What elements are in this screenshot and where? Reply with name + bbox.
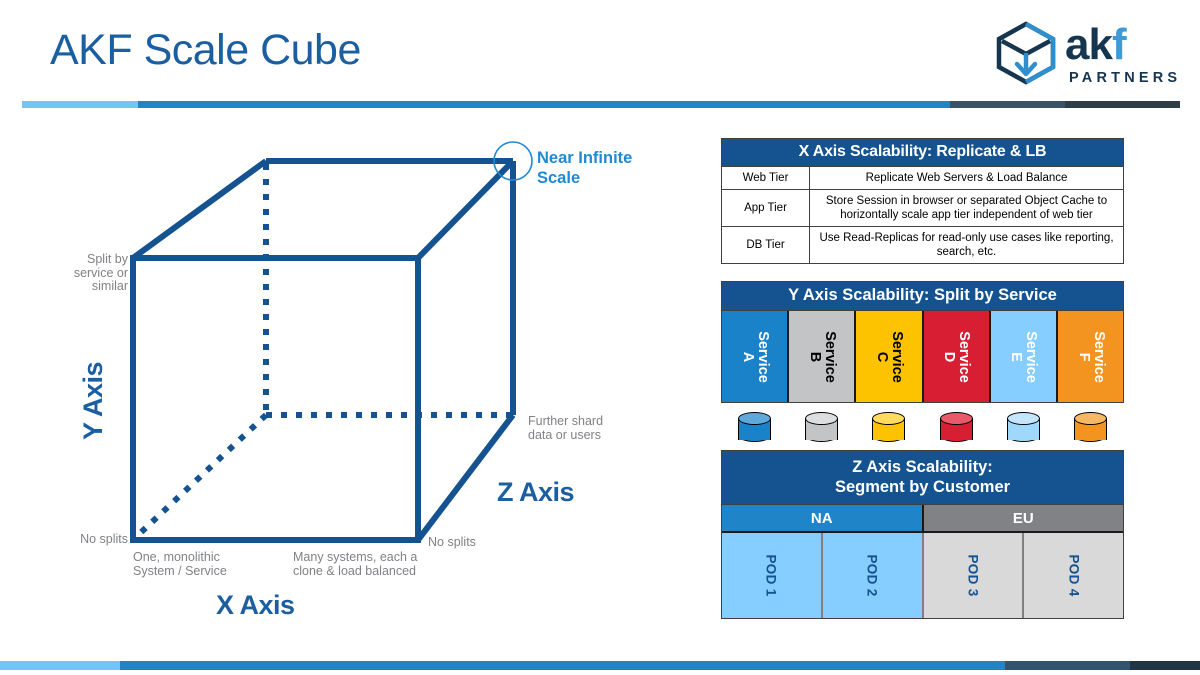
x-axis-left-annotation: One, monolithic System / Service xyxy=(133,551,293,578)
x-row-tier: Web Tier xyxy=(722,167,810,189)
y-axis-label: Y Axis xyxy=(78,362,109,440)
footer-divider-light xyxy=(0,661,120,670)
y-top-annotation-line2: service or xyxy=(74,266,128,280)
y-axis-service-row: ServiceAServiceBServiceCServiceDServiceE… xyxy=(721,311,1124,403)
y-service-line2: B xyxy=(807,351,823,361)
y-service-line1: Service xyxy=(889,331,905,383)
z-region-cell[interactable]: NA xyxy=(722,505,924,533)
logo-word-ak: ak xyxy=(1065,20,1112,69)
y-axis-table-header: Y Axis Scalability: Split by Service xyxy=(721,281,1124,311)
x-row-description: Use Read-Replicas for read-only use case… xyxy=(810,227,1123,263)
y-service-line1: Service xyxy=(755,331,771,383)
z-pod-label: POD 4 xyxy=(1066,554,1081,596)
z-pod-cell[interactable]: POD 2 xyxy=(823,533,924,618)
x-axis-label: X Axis xyxy=(216,590,295,621)
z-axis-annotation: Further shard data or users xyxy=(528,415,638,442)
table-row: Web TierReplicate Web Servers & Load Bal… xyxy=(721,167,1124,190)
table-row: App TierStore Session in browser or sepa… xyxy=(721,190,1124,227)
no-splits-right-label: No splits xyxy=(428,536,518,550)
y-service-label: ServiceC xyxy=(874,331,904,383)
table-row: DB TierUse Read-Replicas for read-only u… xyxy=(721,227,1124,264)
y-service-line2: C xyxy=(874,351,890,361)
database-cell xyxy=(1057,412,1124,444)
z-axis-table: Z Axis Scalability: Segment by Customer … xyxy=(721,450,1124,619)
database-cell xyxy=(923,412,990,444)
y-top-annotation-line3: similar xyxy=(92,279,128,293)
header-divider-dark xyxy=(950,101,1065,108)
y-service-line1: Service xyxy=(956,331,972,383)
x-axis-table: X Axis Scalability: Replicate & LB Web T… xyxy=(721,138,1124,264)
database-cell xyxy=(990,412,1057,444)
y-service-line1: Service xyxy=(1090,331,1106,383)
z-pod-cell[interactable]: POD 3 xyxy=(924,533,1025,618)
y-service-cell[interactable]: ServiceE xyxy=(991,311,1058,402)
scale-cube-diagram: Near Infinite Scale Split by service or … xyxy=(0,120,700,640)
cube-arrow-icon xyxy=(993,20,1059,86)
z-pod-label: POD 3 xyxy=(965,554,980,596)
y-axis-table: Y Axis Scalability: Split by Service Ser… xyxy=(721,281,1124,444)
z-annotation-line2: data or users xyxy=(528,428,601,442)
slide-root: AKF Scale Cube akf PARTNERS xyxy=(0,0,1200,675)
x-row-description: Store Session in browser or separated Ob… xyxy=(810,190,1123,226)
x-axis-right-annotation: Many systems, each a clone & load balanc… xyxy=(293,551,473,578)
y-service-line1: Service xyxy=(1023,331,1039,383)
x-axis-table-header: X Axis Scalability: Replicate & LB xyxy=(721,138,1124,167)
header-divider-medium xyxy=(138,101,950,108)
cube-edge-top-left xyxy=(133,161,266,258)
database-icon xyxy=(1074,412,1107,444)
y-top-annotation-line1: Split by xyxy=(87,252,128,266)
y-service-label: ServiceB xyxy=(807,331,837,383)
footer-divider-dark xyxy=(1005,661,1130,670)
y-axis-database-row xyxy=(721,412,1124,444)
z-region-cell[interactable]: EU xyxy=(924,505,1124,533)
akf-partners-logo: akf PARTNERS xyxy=(993,18,1178,90)
y-service-line2: E xyxy=(1008,352,1024,362)
database-cell xyxy=(855,412,922,444)
z-header-line2: Segment by Customer xyxy=(835,478,1010,496)
y-service-cell[interactable]: ServiceC xyxy=(856,311,923,402)
x-right-line1: Many systems, each a xyxy=(293,550,417,564)
y-service-line1: Service xyxy=(822,331,838,383)
z-pod-label: POD 1 xyxy=(764,554,779,596)
x-axis-table-body: Web TierReplicate Web Servers & Load Bal… xyxy=(721,167,1124,264)
x-row-tier: DB Tier xyxy=(722,227,810,263)
footer-divider-medium xyxy=(120,661,1005,670)
y-service-cell[interactable]: ServiceD xyxy=(924,311,991,402)
footer-divider-darkest xyxy=(1130,661,1200,670)
x-left-line1: One, monolithic xyxy=(133,550,220,564)
z-axis-table-header: Z Axis Scalability: Segment by Customer xyxy=(721,450,1124,505)
y-top-annotation: Split by service or similar xyxy=(30,253,128,294)
page-title: AKF Scale Cube xyxy=(50,26,361,75)
logo-word-f: f xyxy=(1112,20,1126,69)
y-service-label: ServiceE xyxy=(1008,331,1038,383)
near-infinite-line1: Near Infinite xyxy=(537,149,632,167)
no-splits-left-label: No splits xyxy=(20,533,128,547)
z-axis-region-row: NAEU xyxy=(721,505,1124,533)
database-icon xyxy=(805,412,838,444)
near-infinite-line2: Scale xyxy=(537,169,580,187)
database-cell xyxy=(788,412,855,444)
y-service-cell[interactable]: ServiceF xyxy=(1058,311,1123,402)
z-axis-pod-row: POD 1POD 2POD 3POD 4 xyxy=(721,533,1124,619)
z-annotation-line1: Further shard xyxy=(528,414,603,428)
z-pod-label: POD 2 xyxy=(865,554,880,596)
z-pod-cell[interactable]: POD 1 xyxy=(722,533,823,618)
database-icon xyxy=(940,412,973,444)
header-divider-light xyxy=(22,101,138,108)
logo-subtitle: PARTNERS xyxy=(1069,70,1181,86)
database-cell xyxy=(721,412,788,444)
y-service-cell[interactable]: ServiceB xyxy=(789,311,856,402)
z-pod-cell[interactable]: POD 4 xyxy=(1024,533,1123,618)
y-service-label: ServiceA xyxy=(740,331,770,383)
cube-hidden-edge-diagonal xyxy=(136,415,266,537)
y-service-line2: D xyxy=(941,351,957,361)
x-right-line2: clone & load balanced xyxy=(293,564,416,578)
database-icon xyxy=(872,412,905,444)
x-row-description: Replicate Web Servers & Load Balance xyxy=(810,167,1123,189)
x-left-line2: System / Service xyxy=(133,564,227,578)
y-service-line2: A xyxy=(740,351,756,361)
database-icon xyxy=(738,412,771,444)
x-row-tier: App Tier xyxy=(722,190,810,226)
y-service-label: ServiceD xyxy=(941,331,971,383)
z-axis-label: Z Axis xyxy=(497,477,574,508)
cube-edge-top-right xyxy=(418,161,513,258)
y-service-cell[interactable]: ServiceA xyxy=(722,311,789,402)
header-divider-darkest xyxy=(1065,101,1180,108)
database-icon xyxy=(1007,412,1040,444)
y-service-label: ServiceF xyxy=(1075,331,1105,383)
near-infinite-scale-label: Near Infinite Scale xyxy=(537,148,677,188)
z-header-line1: Z Axis Scalability: xyxy=(852,458,993,476)
logo-wordmark: akf xyxy=(1065,22,1126,68)
y-service-line2: F xyxy=(1075,352,1091,361)
